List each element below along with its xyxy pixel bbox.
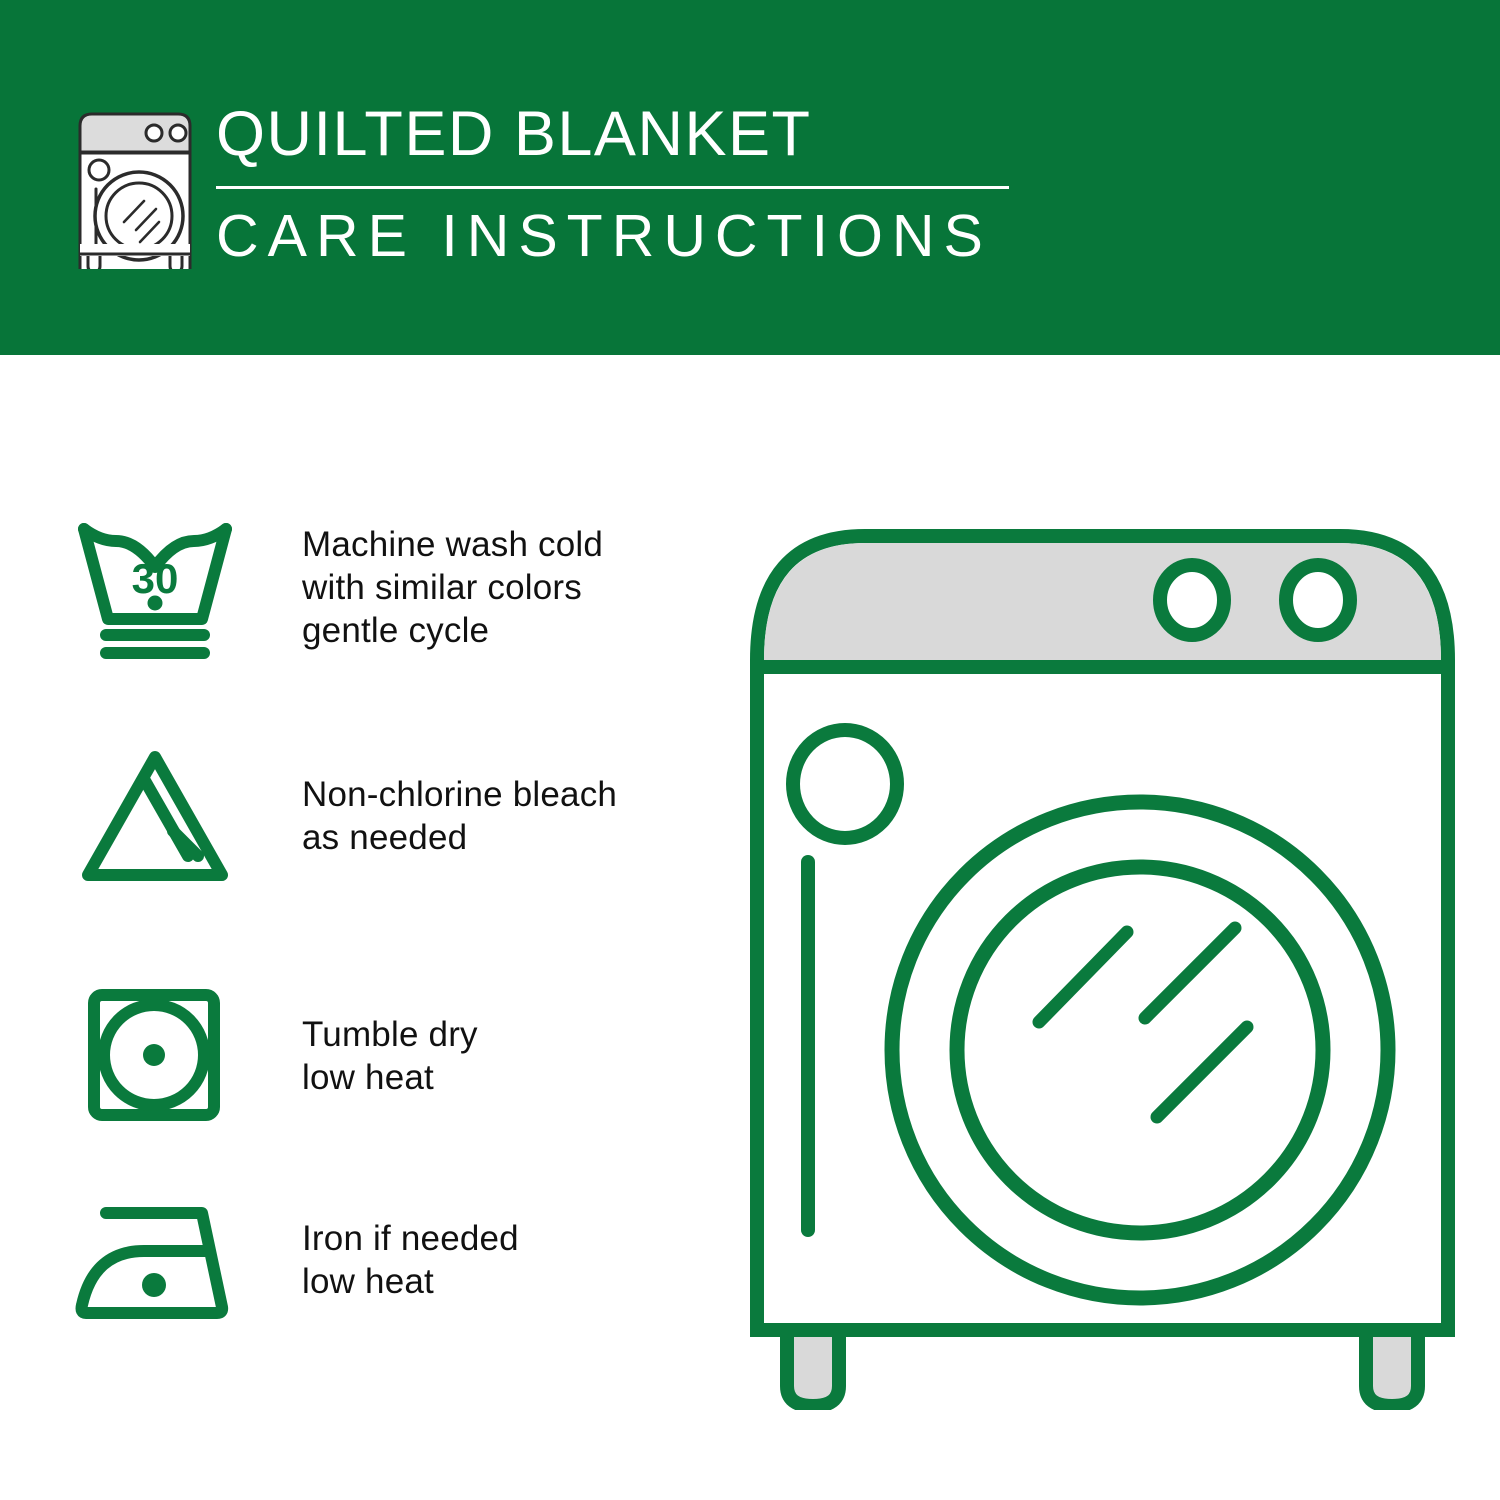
washing-machine-icon (62, 104, 212, 269)
care-row-tumble-dry: Tumble dry low heat (70, 983, 478, 1128)
front-load-washing-machine-illustration (745, 500, 1460, 1410)
care-text-tumble-dry: Tumble dry low heat (302, 1013, 478, 1099)
page-title: QUILTED BLANKET (216, 98, 1216, 170)
care-row-bleach: Non-chlorine bleach as needed (70, 743, 617, 888)
page-subtitle: CARE INSTRUCTIONS (216, 201, 1216, 271)
header-text-block: QUILTED BLANKET CARE INSTRUCTIONS (216, 98, 1216, 271)
wash-tub-30-icon: 30 (70, 515, 250, 660)
care-text-bleach: Non-chlorine bleach as needed (302, 773, 617, 859)
care-row-iron: Iron if needed low heat (70, 1195, 519, 1325)
care-text-iron: Iron if needed low heat (302, 1217, 519, 1303)
iron-icon (70, 1195, 250, 1325)
title-divider (216, 186, 1009, 189)
care-row-wash: 30 Machine wash cold with similar colors… (70, 515, 603, 660)
care-text-wash: Machine wash cold with similar colors ge… (302, 523, 603, 652)
care-instructions-page: QUILTED BLANKET CARE INSTRUCTIONS 30 (0, 0, 1500, 1500)
svg-text:30: 30 (132, 555, 179, 602)
header-banner: QUILTED BLANKET CARE INSTRUCTIONS (0, 0, 1500, 355)
tumble-dry-icon (70, 983, 250, 1128)
bleach-triangle-icon (70, 743, 250, 888)
